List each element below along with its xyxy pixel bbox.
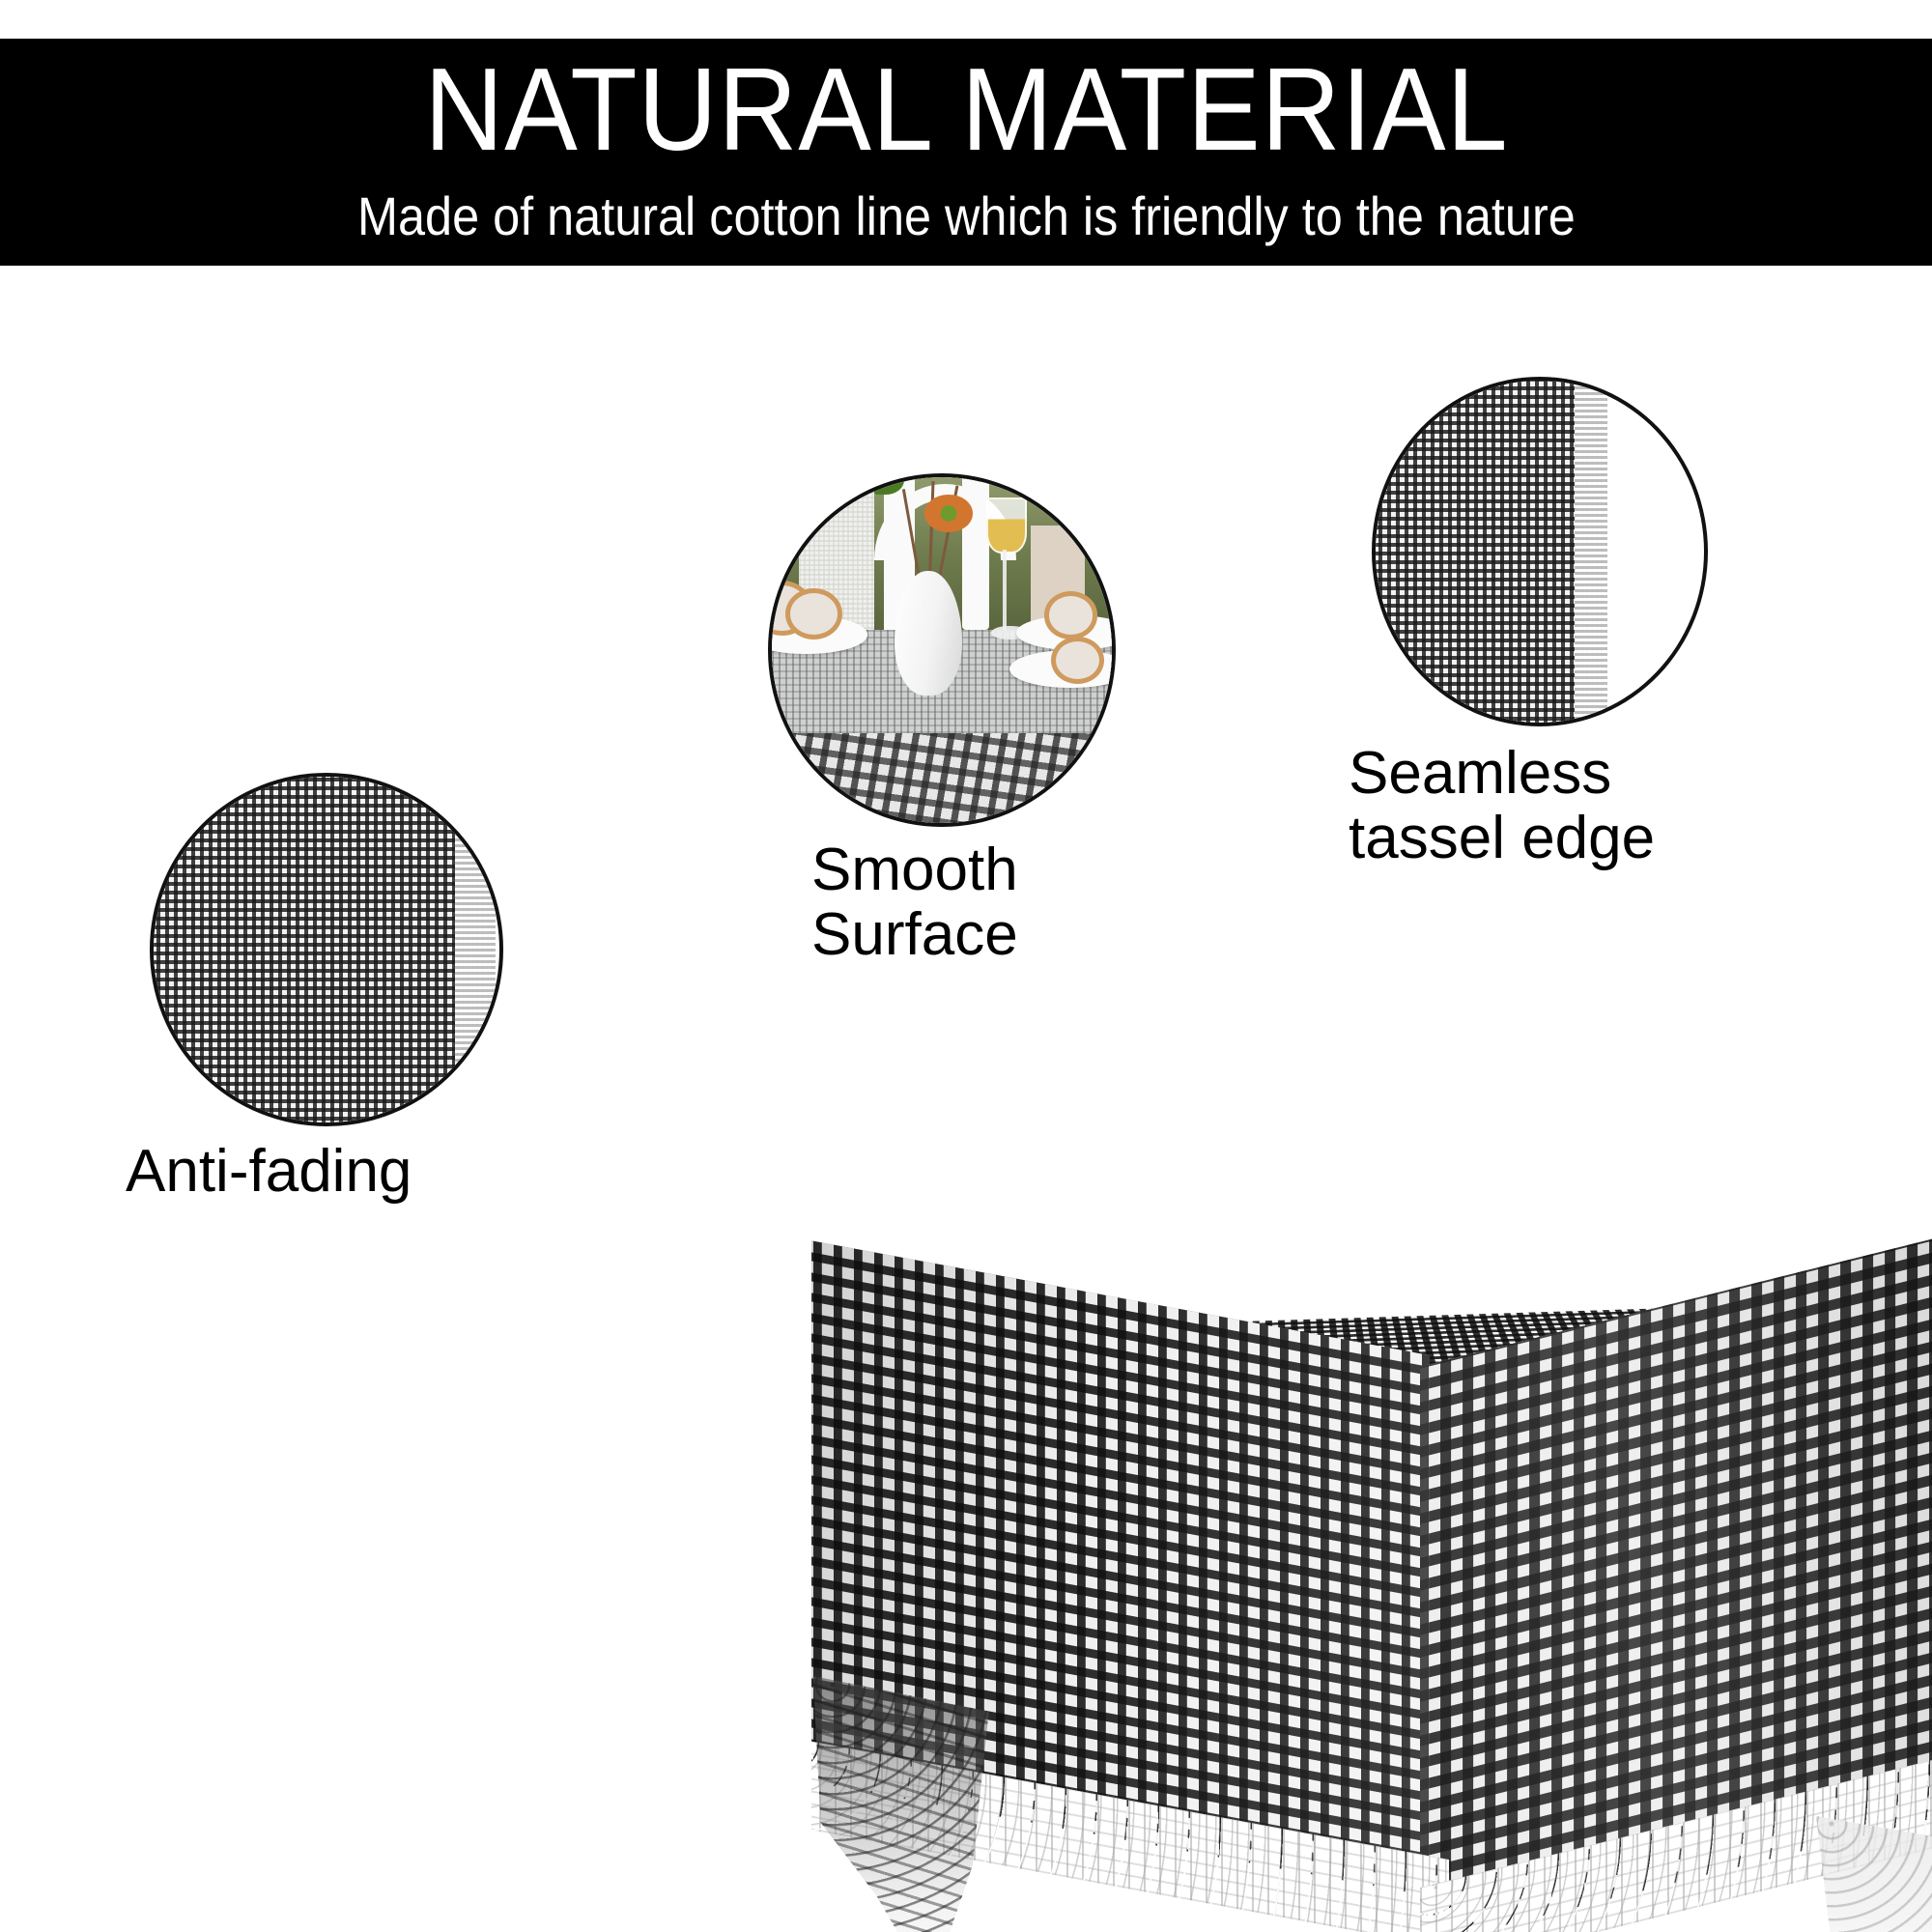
smooth-surface-photo-inner: [772, 477, 1112, 823]
tassel-edge-swatch-inner: [1376, 381, 1704, 723]
page-subtitle: Made of natural cotton line which is fri…: [357, 189, 1576, 243]
gingham-swatch-icon: [1376, 381, 1584, 723]
wine-glass-stem: [1003, 550, 1007, 629]
flower-icon: [924, 495, 972, 532]
pastry-icon: [785, 588, 842, 639]
gingham-swatch-icon: [154, 777, 467, 1122]
callout-label-smooth-surface: Smooth Surface: [811, 838, 1275, 968]
wine-glass-icon: [986, 497, 1028, 554]
header-banner: NATURAL MATERIAL Made of natural cotton …: [0, 39, 1932, 266]
page-title: NATURAL MATERIAL: [424, 50, 1508, 168]
pastry-icon: [1044, 591, 1098, 639]
smooth-surface-photo-circle: [768, 473, 1116, 827]
lace-edge-icon: [455, 777, 496, 1122]
callout-label-seamless-tassel-edge: Seamless tassel edge: [1349, 742, 1889, 871]
tablecloth-drop-edge: [772, 733, 1112, 823]
anti-fading-swatch-inner: [154, 777, 499, 1122]
callout-label-anti-fading: Anti-fading: [126, 1140, 628, 1205]
pastry-icon: [1051, 637, 1105, 684]
anti-fading-swatch-circle: [150, 773, 503, 1126]
tassel-edge-swatch-circle: [1372, 377, 1708, 726]
lace-corner-drape-right: [1816, 1816, 1932, 1932]
lace-edge-icon: [1575, 381, 1607, 723]
product-image-tablecloth: [811, 1005, 1932, 1932]
table-scene-image: [772, 477, 1112, 823]
